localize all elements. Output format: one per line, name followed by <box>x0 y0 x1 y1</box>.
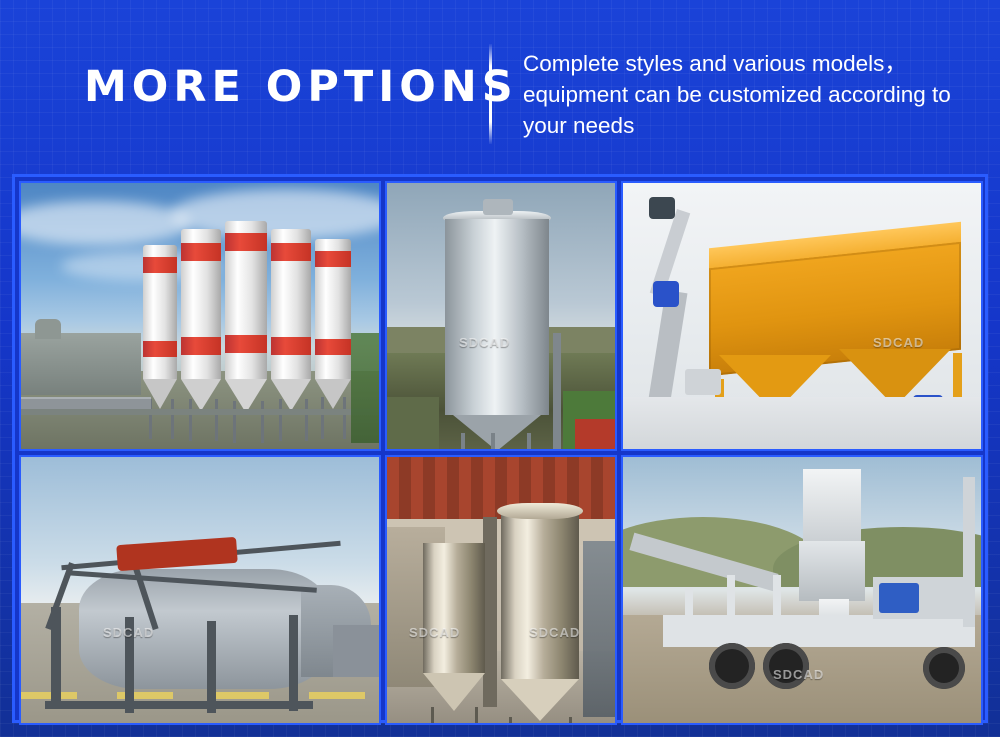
photo-silo-battery: SDCAD <box>21 183 379 449</box>
photo-silo-in-yard: SDCAD <box>21 457 379 723</box>
photo-yellow-container-hopper: SDCAD <box>623 183 981 449</box>
gallery-item-single-grey-silo[interactable]: SDCAD <box>385 181 617 451</box>
gallery-item-mobile-batching-plant[interactable]: SDCAD <box>621 455 983 725</box>
photo-mobile-batching-plant: SDCAD <box>623 457 981 723</box>
banner-header: MORE OPTIONS Complete styles and various… <box>0 0 1000 166</box>
header-divider <box>489 44 492 144</box>
gallery-item-yellow-container-hopper[interactable]: SDCAD <box>621 181 983 451</box>
gallery-item-silo-battery[interactable]: SDCAD <box>19 181 381 451</box>
banner-subtitle: Complete styles and various models，equip… <box>523 48 973 141</box>
photo-single-grey-silo: SDCAD <box>387 183 615 449</box>
product-gallery: SDCAD SDCAD <box>12 174 988 723</box>
photo-stainless-silos-shed: SDCAD SDCAD <box>387 457 615 723</box>
page-title: MORE OPTIONS <box>84 66 518 109</box>
gallery-item-silo-in-yard[interactable]: SDCAD <box>19 455 381 725</box>
promo-banner: MORE OPTIONS Complete styles and various… <box>0 0 1000 737</box>
gallery-item-stainless-silos-shed[interactable]: SDCAD SDCAD <box>385 455 617 725</box>
